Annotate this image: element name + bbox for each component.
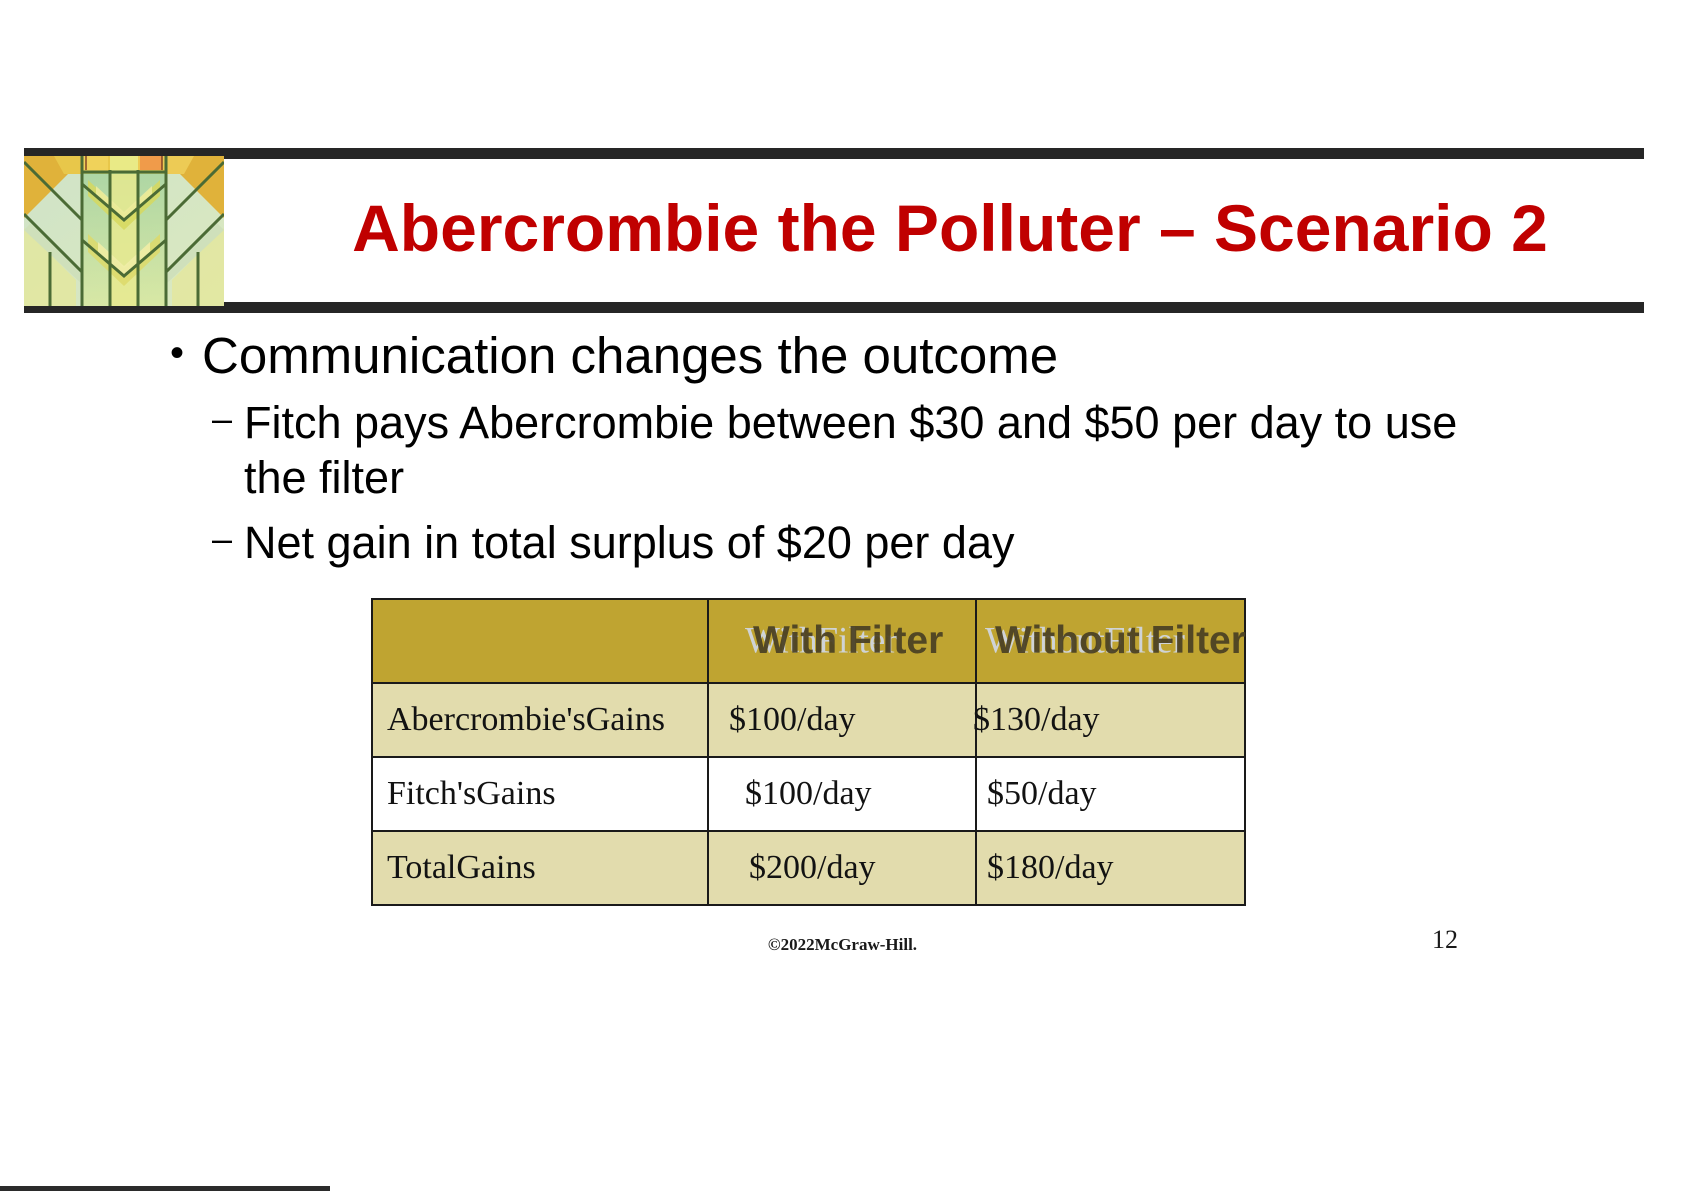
value-fitch-without-filter: $50/day bbox=[977, 775, 1097, 812]
bullet-level2-net-gain: – Net gain in total surplus of $20 per d… bbox=[212, 516, 1570, 571]
value-abercrombie-with-filter: $100/day bbox=[709, 701, 856, 738]
stained-glass-ornament-icon bbox=[24, 156, 224, 306]
table-row: Abercrombie'sGains $100/day $130/day bbox=[372, 683, 1245, 757]
bullet-level1-text: Communication changes the outcome bbox=[202, 326, 1570, 386]
bullet-marker-icon: • bbox=[170, 326, 202, 380]
value-abercrombie-without-filter: $130/day bbox=[963, 701, 1100, 738]
row-value-with-filter: $200/day bbox=[708, 831, 976, 905]
dash-marker-icon: – bbox=[212, 396, 244, 443]
table-header-with-filter: WithFilter With Filter bbox=[708, 599, 976, 683]
row-label-cell: Abercrombie'sGains bbox=[372, 683, 708, 757]
bullet-level2-text-1: Fitch pays Abercrombie between $30 and $… bbox=[244, 396, 1494, 506]
dash-marker-icon: – bbox=[212, 516, 244, 563]
banner-rule-top bbox=[24, 148, 1644, 159]
row-label-cell: Fitch'sGains bbox=[372, 757, 708, 831]
table-row: Fitch'sGains $100/day $50/day bbox=[372, 757, 1245, 831]
banner-rule-bottom bbox=[24, 302, 1644, 313]
row-label-abercrombie: Abercrombie'sGains bbox=[373, 701, 665, 738]
row-label-fitch: Fitch'sGains bbox=[373, 775, 556, 812]
row-value-without-filter: $50/day bbox=[976, 757, 1245, 831]
row-label-cell: TotalGains bbox=[372, 831, 708, 905]
page-title: Abercrombie the Polluter – Scenario 2 bbox=[256, 168, 1644, 288]
page-number: 12 bbox=[1400, 925, 1490, 955]
row-value-without-filter: $180/day bbox=[976, 831, 1245, 905]
row-label-total: TotalGains bbox=[373, 849, 536, 886]
bullet-level2-fitch-pays: – Fitch pays Abercrombie between $30 and… bbox=[212, 396, 1570, 506]
table-header-corner-label bbox=[373, 622, 387, 659]
header-with-filter-sans: With Filter bbox=[753, 619, 943, 663]
table-row: TotalGains $200/day $180/day bbox=[372, 831, 1245, 905]
slide-canvas: Abercrombie the Polluter – Scenario 2 • … bbox=[0, 0, 1685, 1191]
bullet-level2-text-2: Net gain in total surplus of $20 per day bbox=[244, 516, 1494, 571]
value-fitch-with-filter: $100/day bbox=[725, 775, 872, 812]
payoff-table: WithFilter With Filter WithoutFilter Wit… bbox=[371, 598, 1246, 906]
header-overlay-stack: WithFilter With Filter bbox=[709, 600, 975, 682]
table-header-without-filter: WithoutFilter Without Filter bbox=[976, 599, 1245, 683]
row-value-with-filter: $100/day bbox=[708, 757, 976, 831]
row-value-with-filter: $100/day bbox=[708, 683, 976, 757]
value-total-with-filter: $200/day bbox=[729, 849, 876, 886]
body-content: • Communication changes the outcome – Fi… bbox=[170, 326, 1570, 571]
bullet-level1-communication: • Communication changes the outcome bbox=[170, 326, 1570, 386]
table-header-corner-cell bbox=[372, 599, 708, 683]
value-total-without-filter: $180/day bbox=[977, 849, 1114, 886]
table-header-row: WithFilter With Filter WithoutFilter Wit… bbox=[372, 599, 1245, 683]
header-without-filter-sans: Without Filter bbox=[995, 619, 1246, 663]
row-value-without-filter: $130/day bbox=[976, 683, 1245, 757]
header-overlay-stack: WithoutFilter Without Filter bbox=[977, 600, 1244, 682]
notes-pane-divider bbox=[0, 1186, 330, 1191]
title-banner: Abercrombie the Polluter – Scenario 2 bbox=[24, 148, 1644, 313]
